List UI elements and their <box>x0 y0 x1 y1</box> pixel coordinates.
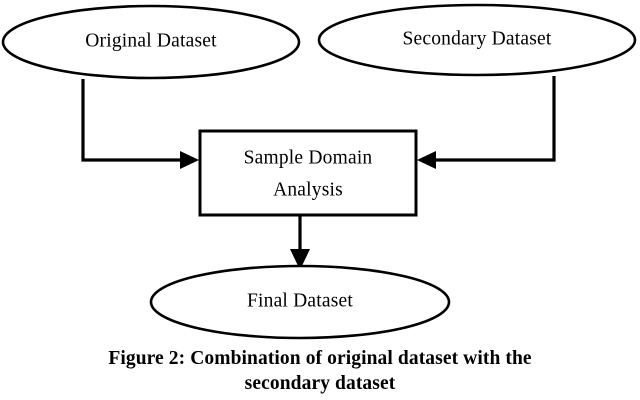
original-dataset-label: Original Dataset <box>85 30 217 51</box>
figure-container: Original Dataset Secondary Dataset Sampl… <box>0 0 640 400</box>
node-final-dataset[interactable]: Final Dataset <box>151 266 449 338</box>
node-secondary-dataset[interactable]: Secondary Dataset <box>319 5 635 75</box>
edge-secondary-to-analysis <box>417 76 554 169</box>
secondary-dataset-label: Secondary Dataset <box>402 28 551 49</box>
flowchart-diagram: Original Dataset Secondary Dataset Sampl… <box>0 0 640 400</box>
edge-original-to-analysis-line <box>83 79 193 160</box>
sample-domain-analysis-box <box>200 131 416 215</box>
edge-original-to-analysis <box>83 79 199 169</box>
node-sample-domain-analysis[interactable]: Sample Domain Analysis <box>200 131 416 215</box>
edge-analysis-to-final <box>290 215 310 270</box>
figure-caption: Figure 2: Combination of original datase… <box>0 346 640 396</box>
final-dataset-label: Final Dataset <box>247 290 353 311</box>
figure-caption-line-2: secondary dataset <box>0 371 640 396</box>
figure-caption-line-1: Figure 2: Combination of original datase… <box>0 346 640 371</box>
sample-domain-analysis-label-line-2: Analysis <box>273 179 343 200</box>
edge-secondary-to-analysis-arrowhead <box>417 151 436 169</box>
edge-secondary-to-analysis-line <box>423 76 554 160</box>
edge-original-to-analysis-arrowhead <box>180 151 199 169</box>
sample-domain-analysis-label-line-1: Sample Domain <box>244 147 373 168</box>
node-original-dataset[interactable]: Original Dataset <box>3 6 299 78</box>
